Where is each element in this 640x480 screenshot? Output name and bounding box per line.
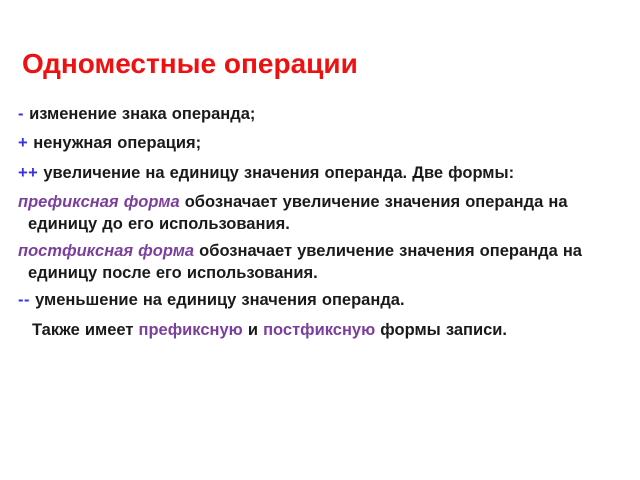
operator-increment: ++ (18, 164, 38, 182)
operator-decrement: -- (18, 291, 30, 309)
bullet-minus: - изменение знака операнда; (14, 104, 628, 125)
page-title: Одноместные операции (22, 49, 622, 80)
bullet-plus-text: ненужная операция; (28, 134, 201, 152)
term-postfix-inline: постфиксную (263, 321, 375, 339)
term-prefix-form: префиксная форма (18, 193, 180, 211)
slide-body: - изменение знака операнда; + ненужная о… (14, 104, 628, 341)
bullet-increment-text: увеличение на единицу значения операнда.… (38, 164, 514, 182)
also-conjunction: и (243, 321, 263, 339)
form-postfix: постфиксная форма обозначает увеличение … (14, 241, 628, 284)
bullet-decrement: -- уменьшение на единицу значения операн… (14, 290, 628, 311)
term-prefix-inline: префиксную (139, 321, 243, 339)
operator-plus: + (18, 134, 28, 152)
term-postfix-form: постфиксная форма (18, 242, 194, 260)
bullet-minus-text: изменение знака операнда; (24, 105, 255, 123)
also-tail-text: формы записи. (375, 321, 507, 339)
also-note: Также имеет префиксную и постфиксную фор… (14, 320, 628, 341)
bullet-increment: ++ увеличение на единицу значения операн… (14, 163, 628, 184)
slide-canvas: Одноместные операции - изменение знака о… (0, 0, 640, 480)
also-lead-text: Также имеет (32, 321, 139, 339)
form-prefix: префиксная форма обозначает увеличение з… (14, 192, 628, 235)
bullet-decrement-text: уменьшение на единицу значения операнда. (30, 291, 405, 309)
bullet-plus: + ненужная операция; (14, 133, 628, 154)
